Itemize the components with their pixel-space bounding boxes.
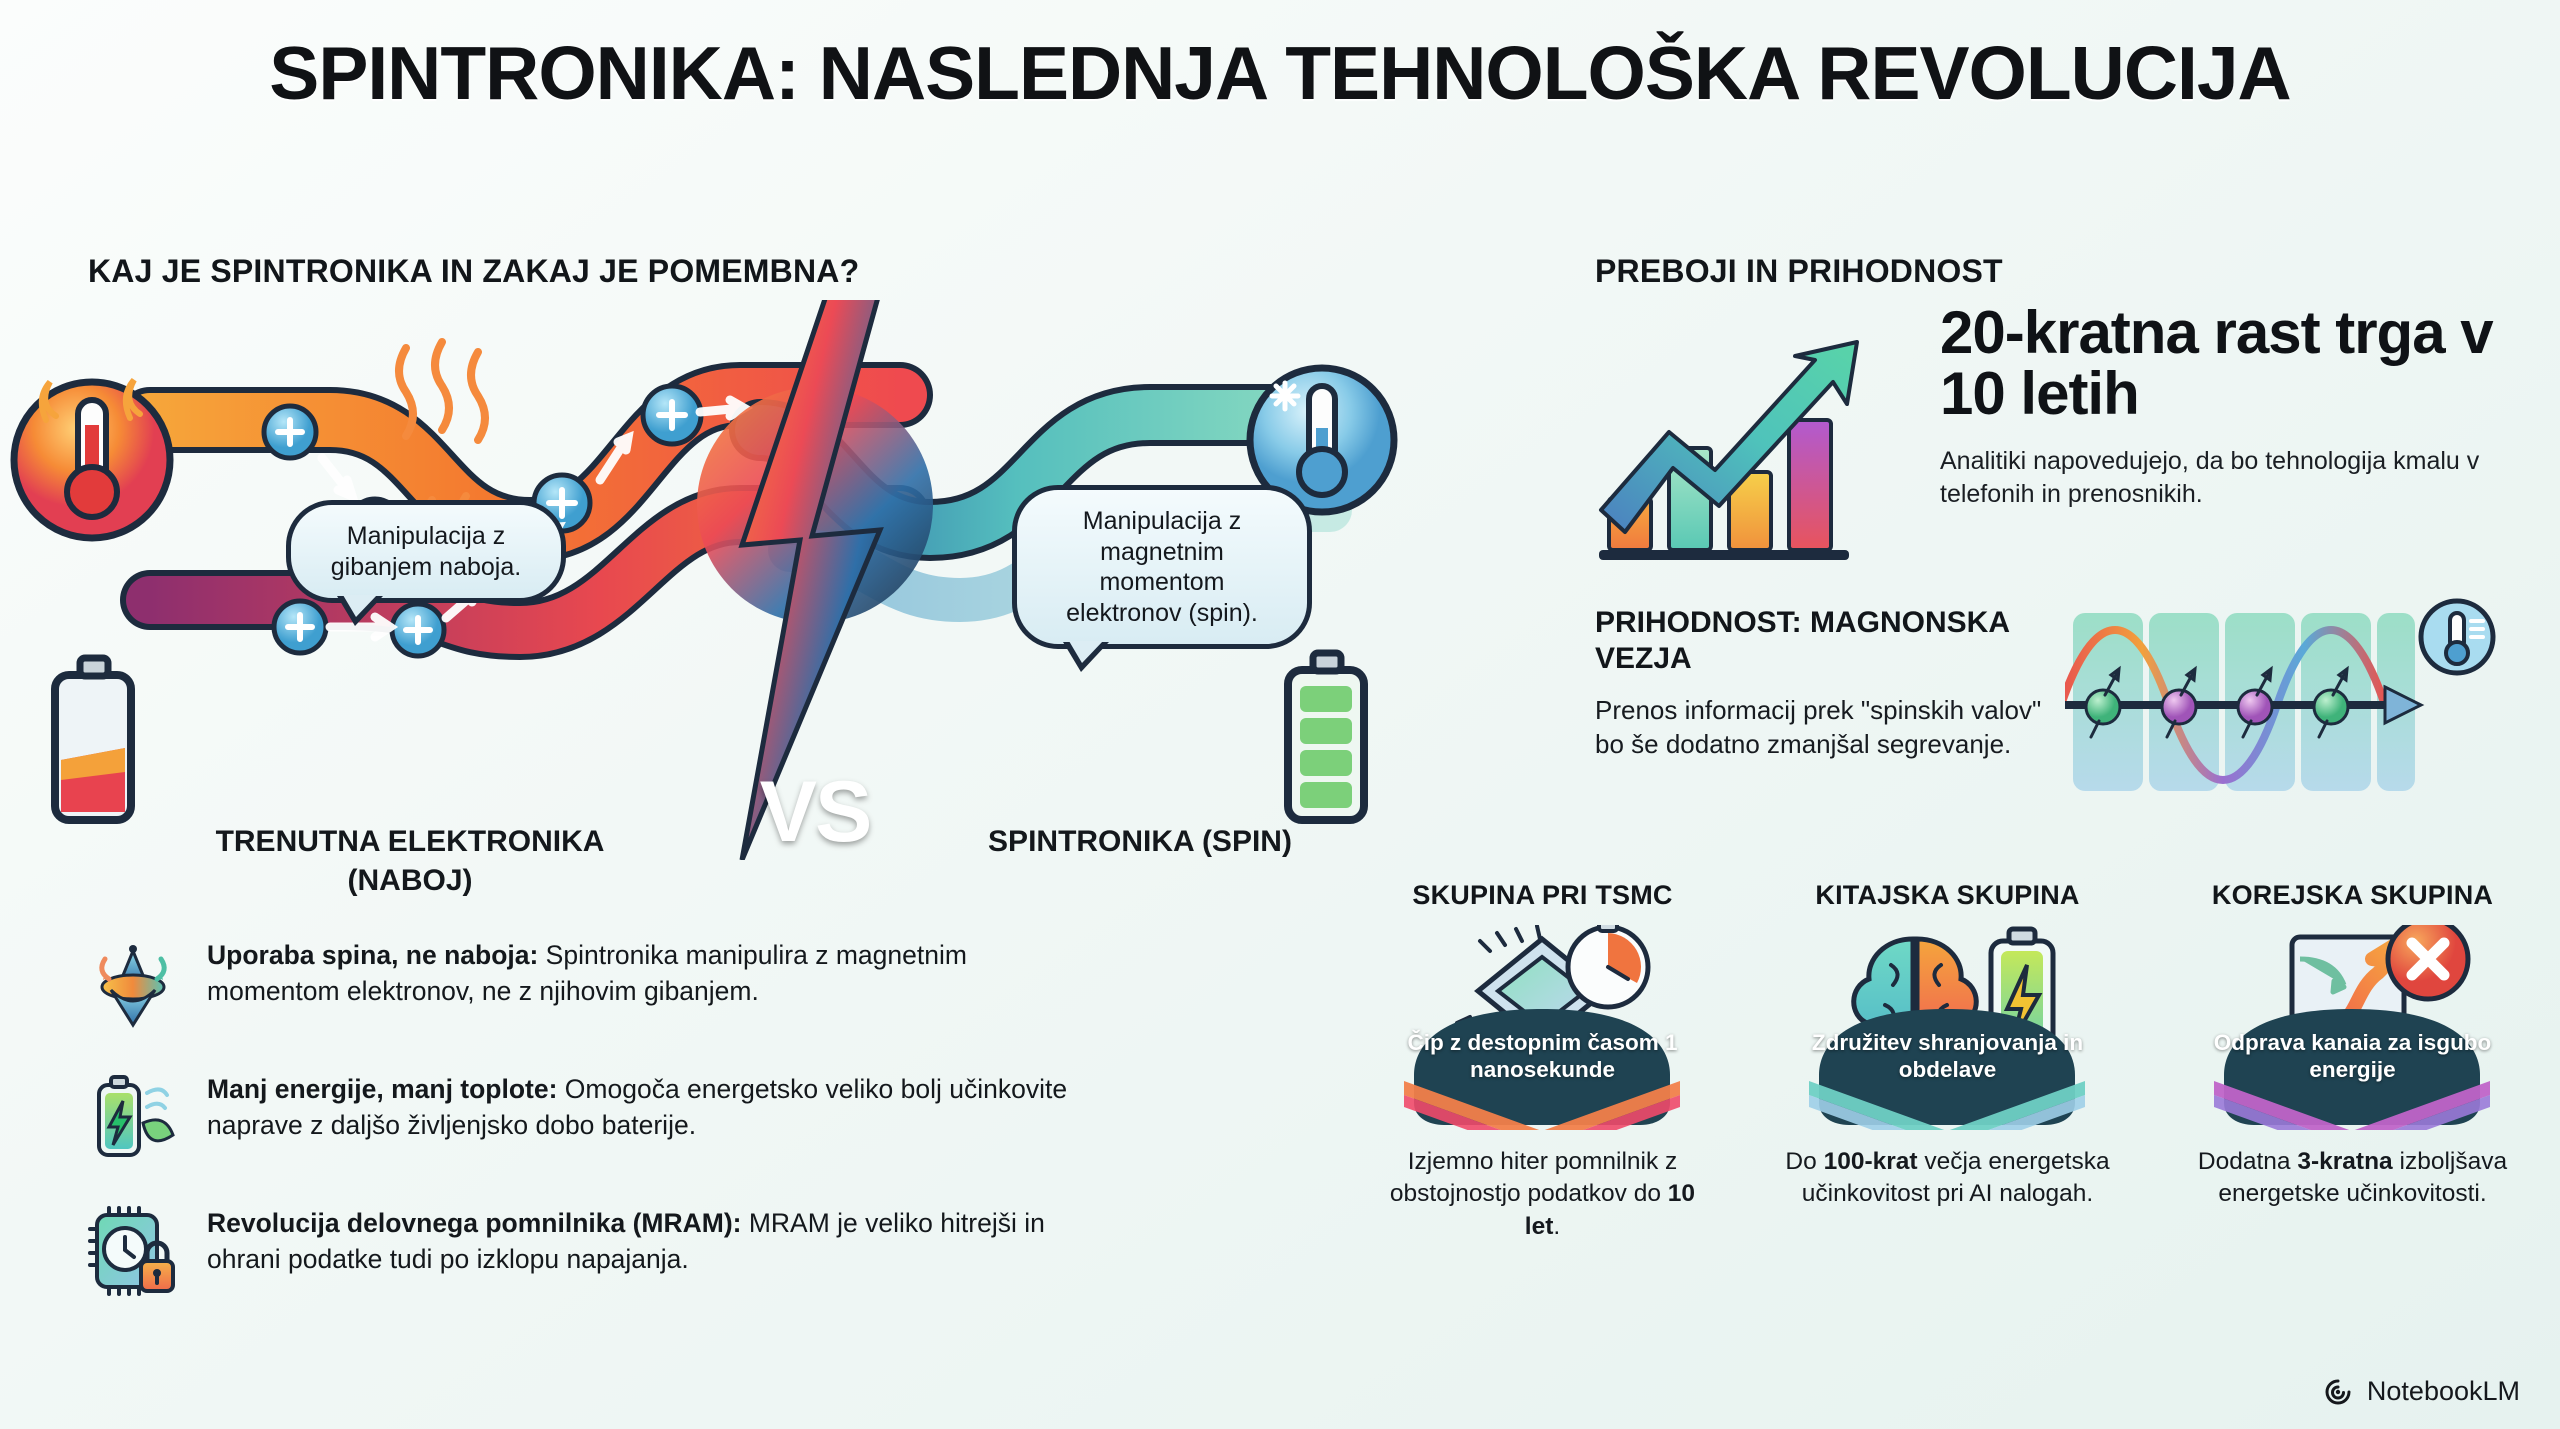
growth-headline: 20-kratna rast trga v 10 letih bbox=[1940, 302, 2540, 424]
card-title: KITAJSKA SKUPINA bbox=[1745, 880, 2150, 911]
speech-bubble-charge: Manipulacija z gibanjem naboja. bbox=[286, 500, 566, 603]
magnon-block: PRIHODNOST: MAGNONSKA VEZJA Prenos infor… bbox=[1595, 605, 2545, 855]
card-title: SKUPINA PRI TSMC bbox=[1340, 880, 1745, 911]
card-caption: Čip z destopnim časom 1 nanosekunde bbox=[1393, 1029, 1693, 1083]
magnon-body: Prenos informacij prek "spinskih valov" … bbox=[1595, 693, 2075, 762]
card-title: KOREJSKA SKUPINA bbox=[2150, 880, 2555, 911]
list-item-bold: Uporaba spina, ne naboja: bbox=[207, 940, 538, 970]
list-item-text: Revolucija delovnega pomnilnika (MRAM): … bbox=[207, 1203, 1085, 1278]
list-item-text: Manj energije, manj toplote: Omogoča ene… bbox=[207, 1069, 1085, 1144]
label-spintronics: SPINTRONIKA (SPIN) bbox=[880, 822, 1400, 861]
list-item: Uporaba spina, ne naboja: Spintronika ma… bbox=[85, 935, 1085, 1031]
card-figure: Čip z destopnim časom 1 nanosekunde bbox=[1340, 925, 1745, 1130]
speech-bubble-spin: Manipulacija z magnetnim momentom elektr… bbox=[1012, 485, 1312, 649]
card-figure: Odprava kanaia za isgubo energije bbox=[2150, 925, 2555, 1130]
full-battery-icon bbox=[1288, 653, 1364, 820]
list-item-bold: Manj energije, manj toplote: bbox=[207, 1074, 557, 1104]
card-description: Dodatna 3-kratna izboljšava energetske u… bbox=[2150, 1146, 2555, 1211]
green-battery-leaf-icon bbox=[85, 1069, 181, 1165]
spin-wave-diagram-icon bbox=[2065, 595, 2535, 830]
magnon-title: PRIHODNOST: MAGNONSKA VEZJA bbox=[1595, 605, 2065, 677]
desc-pre: Dodatna bbox=[2198, 1148, 2297, 1175]
versus-label: VS bbox=[700, 763, 930, 862]
card-figure: Združitev shranjovanja in obdelave bbox=[1745, 925, 2150, 1130]
growth-subtext: Analitiki napovedujejo, da bo tehnologij… bbox=[1940, 445, 2520, 510]
card-caption: Odprava kanaia za isgubo energije bbox=[2203, 1029, 2503, 1083]
card-description: Izjemno hiter pomnilnik z obstojnostjo p… bbox=[1340, 1146, 1745, 1243]
desc-pre: Izjemno hiter pomnilnik z obstojnostjo p… bbox=[1390, 1148, 1677, 1207]
breakthrough-cards: SKUPINA PRI TSMC bbox=[1340, 880, 2555, 1243]
cold-thermometer-icon bbox=[2421, 601, 2493, 673]
card-caption: Združitev shranjovanja in obdelave bbox=[1798, 1029, 2098, 1083]
footer-brand: NotebookLM bbox=[2321, 1376, 2520, 1407]
growth-bar-chart-arrow-icon bbox=[1595, 320, 1925, 565]
section-heading-left: KAJ JE SPINTRONIKA IN ZAKAJ JE POMEMBNA? bbox=[88, 253, 859, 290]
card-tsmc: SKUPINA PRI TSMC bbox=[1340, 880, 1745, 1243]
spinning-top-icon bbox=[85, 935, 181, 1031]
list-item-bold: Revolucija delovnega pomnilnika (MRAM): bbox=[207, 1208, 741, 1238]
page-title: SPINTRONIKA: NASLEDNJA TEHNOLOŠKA REVOLU… bbox=[0, 30, 2560, 116]
comparison-panel: Manipulacija z gibanjem naboja. Manipula… bbox=[0, 300, 1400, 860]
card-korea: KOREJSKA SKUPINA Odprava bbox=[2150, 880, 2555, 1243]
list-item-text: Uporaba spina, ne naboja: Spintronika ma… bbox=[207, 935, 1085, 1010]
versus-badge: VS bbox=[700, 685, 930, 935]
low-battery-icon bbox=[55, 658, 131, 820]
list-item: Manj energije, manj toplote: Omogoča ene… bbox=[85, 1069, 1085, 1165]
chip-clock-lock-icon bbox=[85, 1203, 181, 1299]
section-heading-right: PREBOJI IN PRIHODNOST bbox=[1595, 253, 2003, 290]
desc-bold: 3-kratna bbox=[2297, 1148, 2392, 1175]
footer-brand-label: NotebookLM bbox=[2367, 1376, 2520, 1407]
growth-block: 20-kratna rast trga v 10 letih Analitiki… bbox=[1595, 320, 2535, 570]
desc-bold: 100-krat bbox=[1824, 1148, 1918, 1175]
card-china: KITAJSKA SKUPINA bbox=[1745, 880, 2150, 1243]
list-item: Revolucija delovnega pomnilnika (MRAM): … bbox=[85, 1203, 1085, 1299]
hot-thermometer-icon bbox=[14, 380, 170, 538]
card-description: Do 100-krat večja energetska učinkovitos… bbox=[1745, 1146, 2150, 1211]
desc-post: . bbox=[1553, 1213, 1560, 1240]
label-current-electronics: TRENUTNA ELEKTRONIKA (NABOJ) bbox=[150, 822, 670, 900]
desc-pre: Do bbox=[1785, 1148, 1823, 1175]
benefits-list: Uporaba spina, ne naboja: Spintronika ma… bbox=[85, 935, 1085, 1337]
notebooklm-logo-icon bbox=[2321, 1378, 2355, 1406]
